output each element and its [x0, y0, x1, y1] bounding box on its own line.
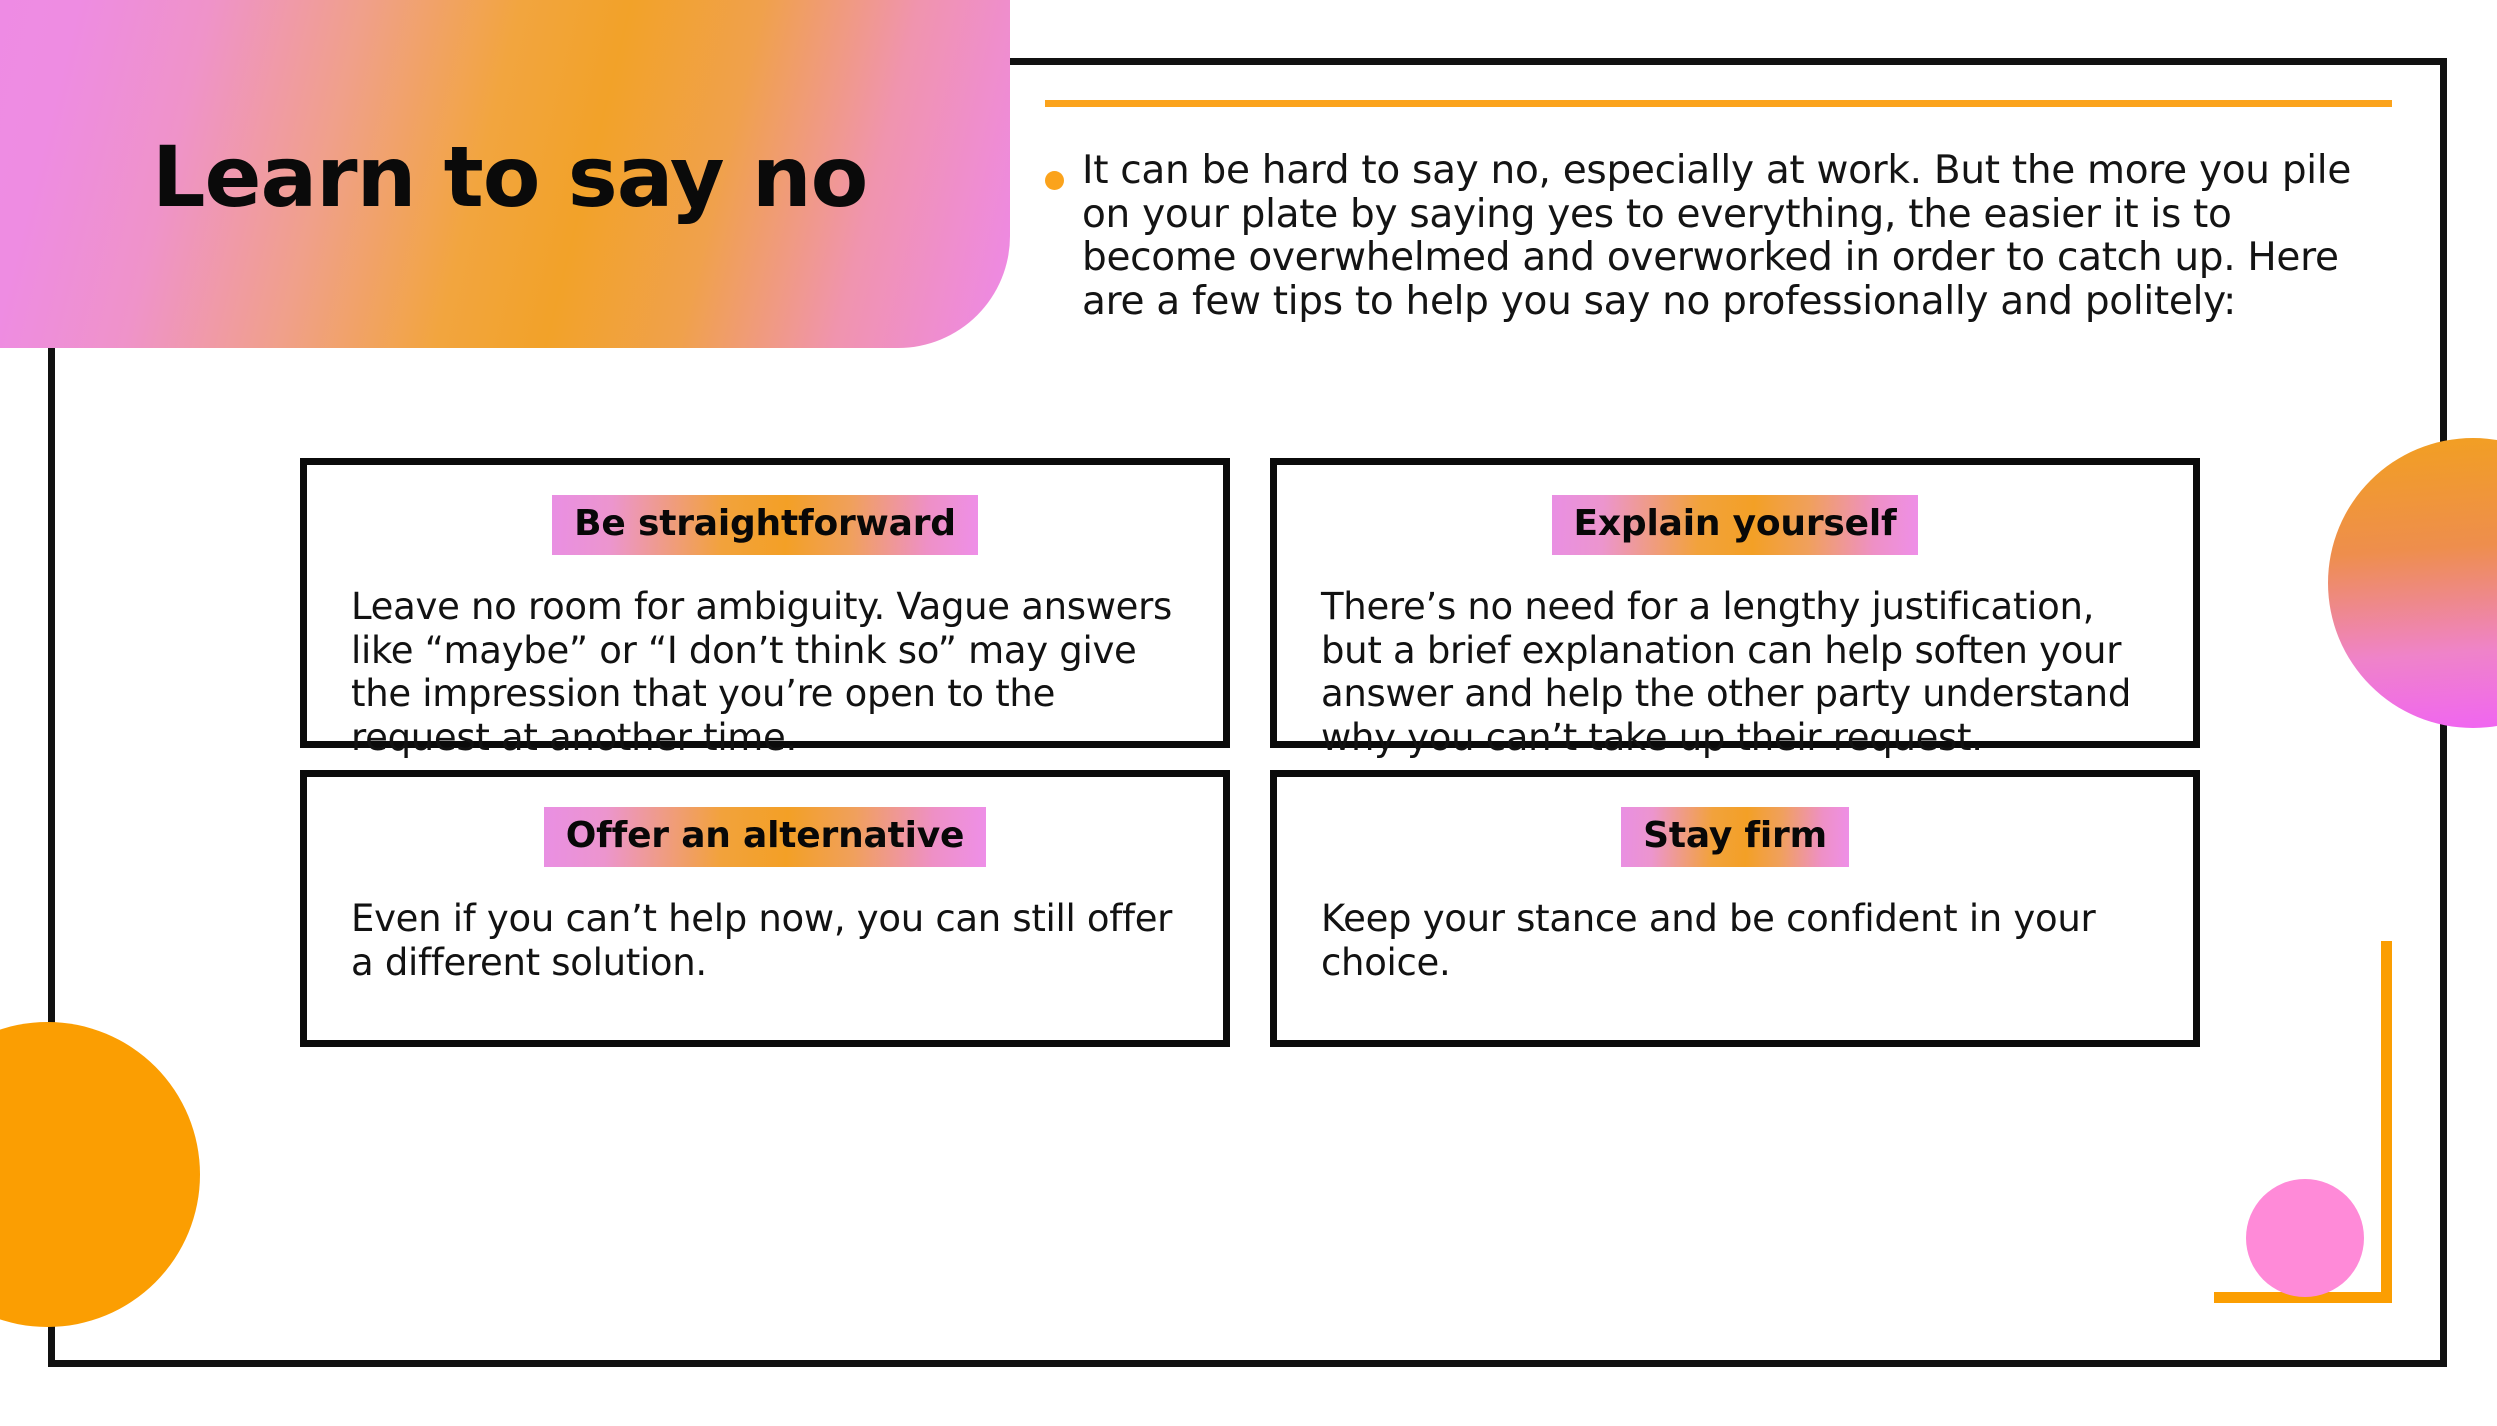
intro-divider-rule [1045, 100, 2392, 107]
page-title: Learn to say no [152, 128, 867, 226]
slide-canvas: Learn to say no It can be hard to say no… [0, 0, 2497, 1426]
tip-card-stay-firm: Stay firm Keep your stance and be confid… [1270, 770, 2200, 1047]
tip-card-body: Leave no room for ambiguity. Vague answe… [341, 585, 1189, 760]
bullet-point-icon [1045, 171, 1064, 190]
tip-card-label: Be straightforward [552, 495, 978, 555]
tip-card-body: Keep your stance and be confident in you… [1311, 897, 2159, 984]
title-banner: Learn to say no [0, 0, 1010, 348]
tip-card-be-straightforward: Be straightforward Leave no room for amb… [300, 458, 1230, 748]
tip-card-body: There’s no need for a lengthy justificat… [1311, 585, 2159, 760]
tip-card-label: Stay firm [1621, 807, 1849, 867]
tip-card-label: Explain yourself [1552, 495, 1919, 555]
tip-card-offer-an-alternative: Offer an alternative Even if you can’t h… [300, 770, 1230, 1047]
intro-paragraph: It can be hard to say no, especially at … [1082, 149, 2392, 324]
tip-card-explain-yourself: Explain yourself There’s no need for a l… [1270, 458, 2200, 748]
tip-card-label: Offer an alternative [544, 807, 986, 867]
tip-card-body: Even if you can’t help now, you can stil… [341, 897, 1189, 984]
intro-bullet-row: It can be hard to say no, especially at … [1045, 149, 2400, 324]
tips-card-grid: Be straightforward Leave no room for amb… [300, 458, 2200, 1047]
intro-block: It can be hard to say no, especially at … [1045, 100, 2400, 324]
pink-circle-decoration-bottom-right [2246, 1179, 2364, 1297]
